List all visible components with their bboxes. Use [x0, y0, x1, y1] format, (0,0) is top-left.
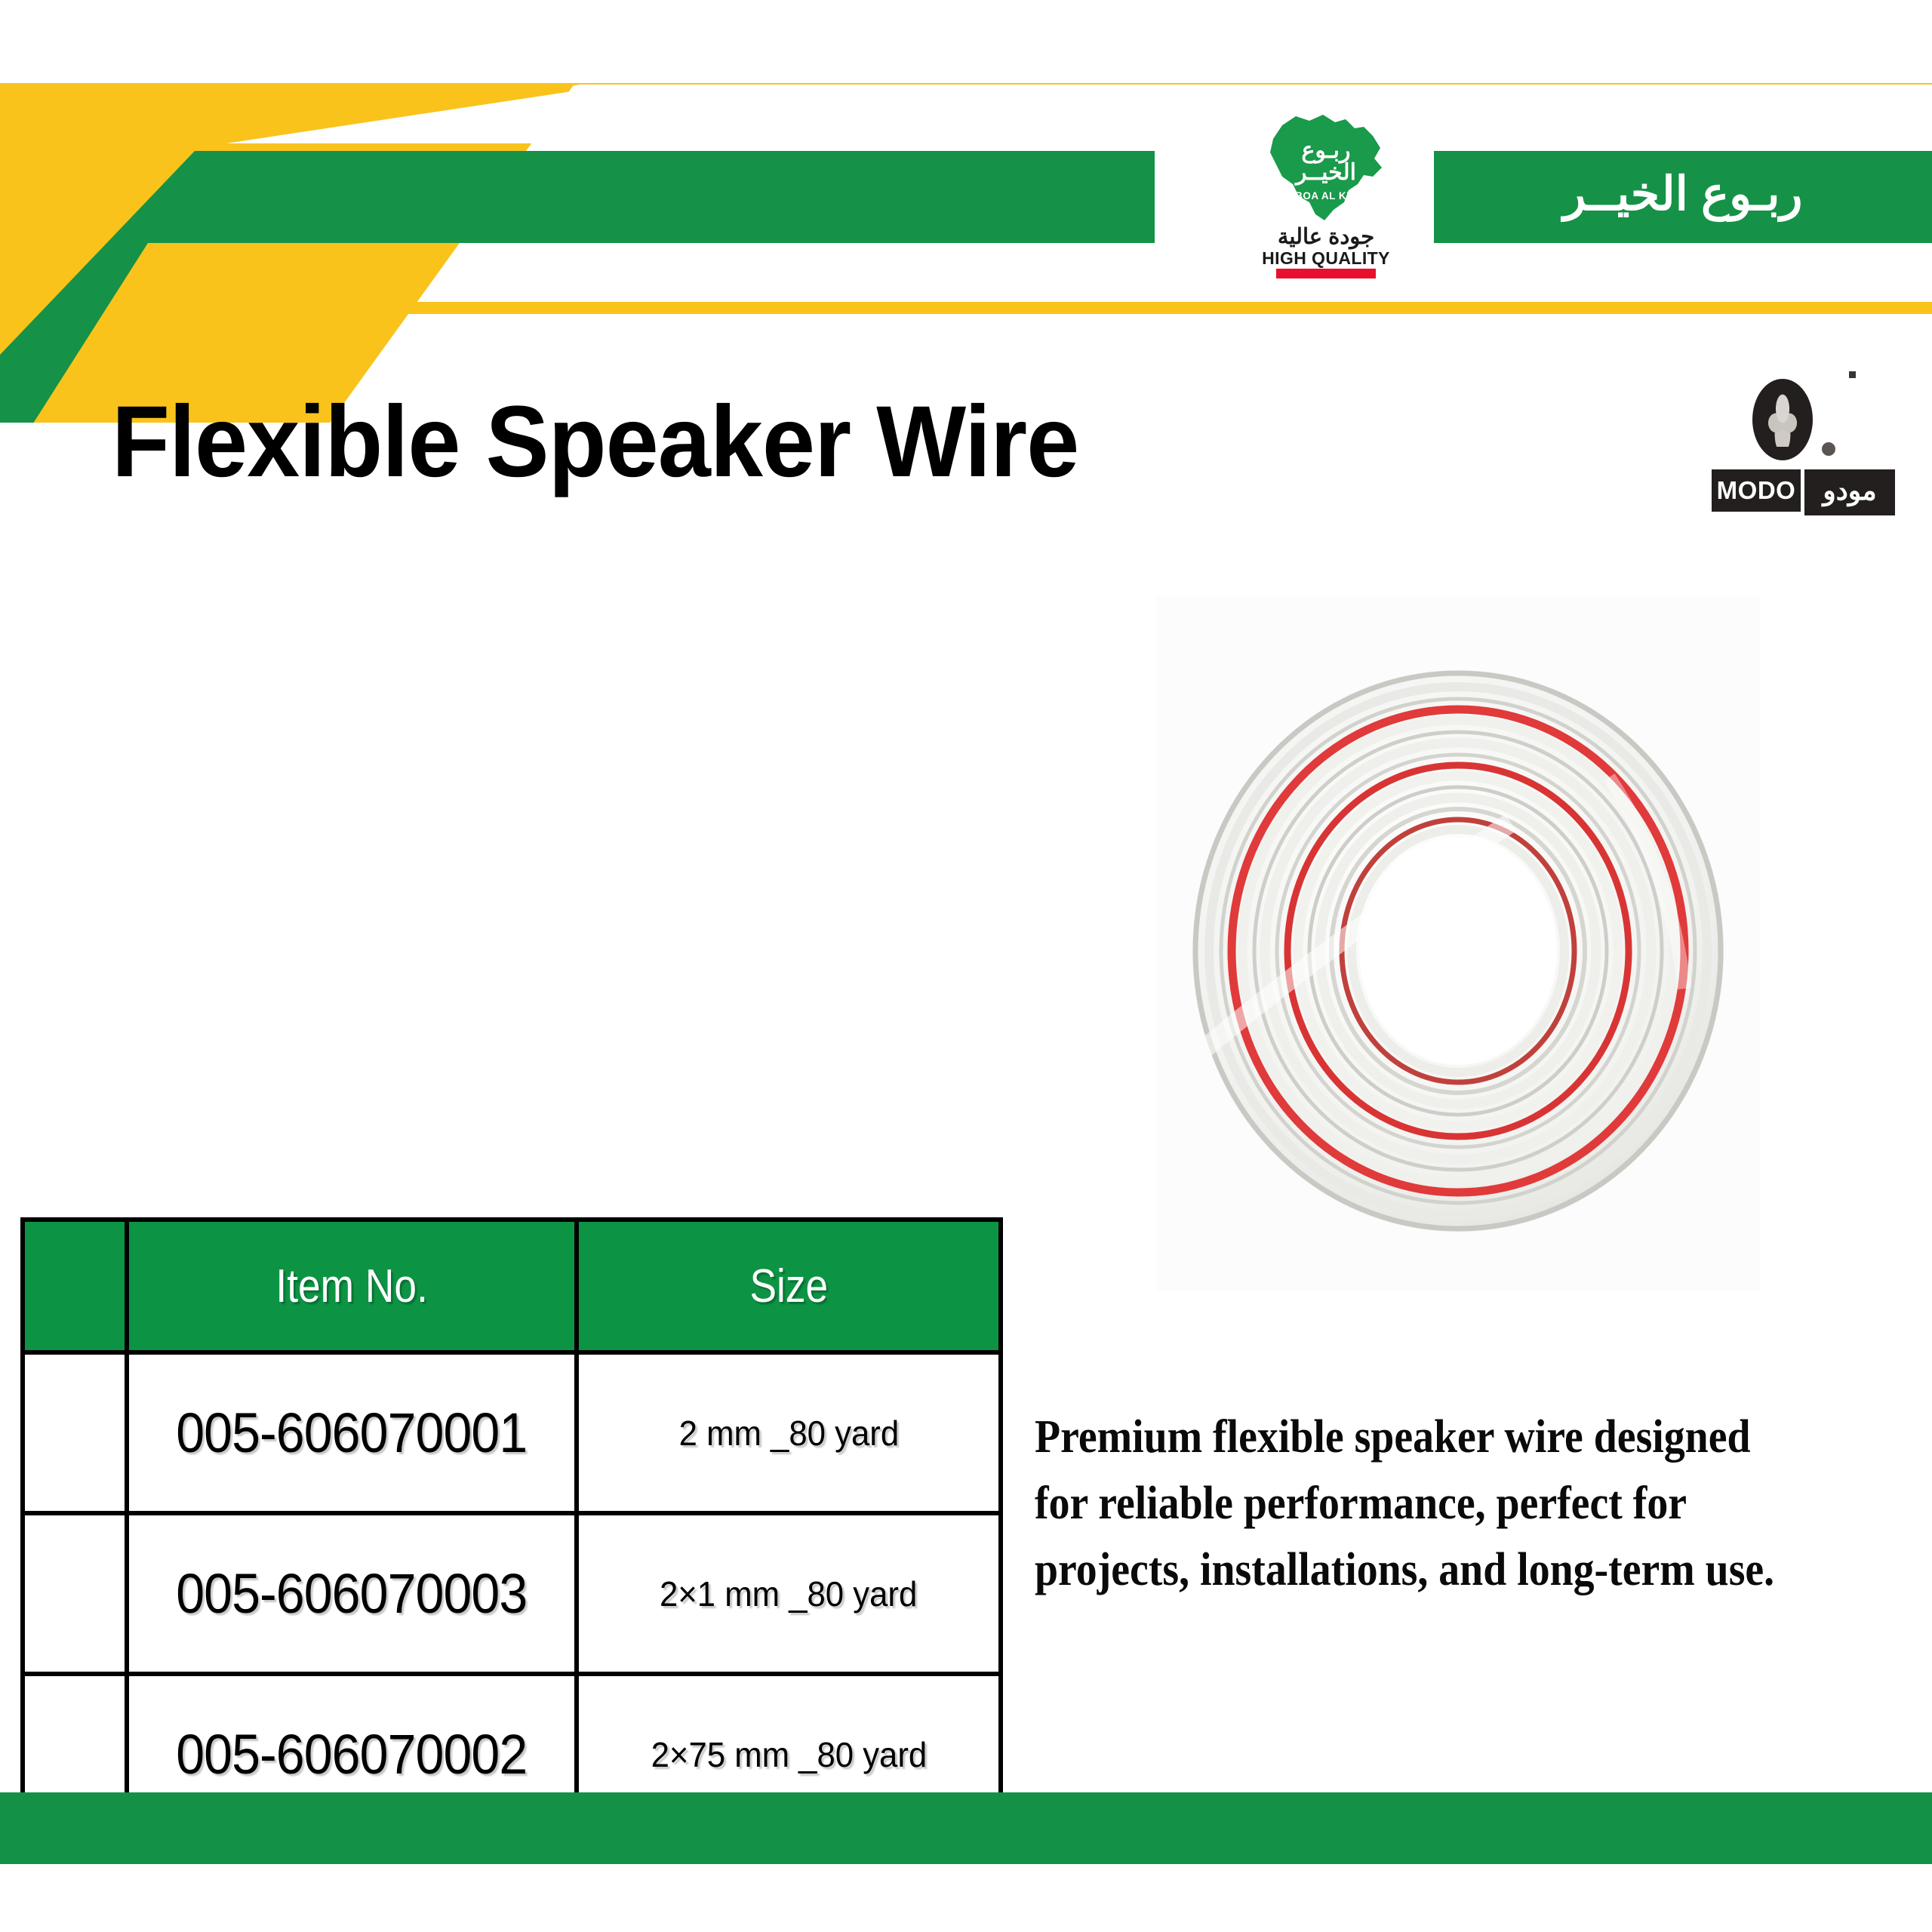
roboa-al-khair-logo: ربـوع الخيــر ROBOA AL KHAIR جودة عالية …: [1232, 112, 1420, 300]
row-item-no-cell: 005-606070003: [127, 1513, 577, 1674]
logo-english-text: ROBOA AL KHAIR: [1260, 190, 1392, 202]
table-row: 005-606070001 2 mm _80 yard: [23, 1352, 1001, 1513]
high-quality-english: HIGH QUALITY: [1261, 249, 1391, 267]
saudi-map-icon: ربـوع الخيــر ROBOA AL KHAIR: [1260, 112, 1392, 225]
product-description: Premium flexible speaker wire designed f…: [1035, 1404, 1802, 1603]
logo-arabic-text: ربـوع الخيــر: [1260, 140, 1392, 184]
table-row: 005-606070003 2×1 mm _80 yard: [23, 1513, 1001, 1674]
column-header-index: [23, 1220, 127, 1352]
modo-dot-mark: [1849, 371, 1856, 378]
modo-logo: MODO مودو: [1712, 370, 1902, 543]
product-image: [1156, 596, 1760, 1291]
row-size-cell: 2×1 mm _80 yard: [577, 1513, 1001, 1674]
page-title: Flexible Speaker Wire: [112, 386, 1078, 497]
row-index-cell: [23, 1352, 127, 1513]
header-banner-left: [196, 151, 1155, 241]
header-banner-right: ربـوع الخيــر: [1434, 151, 1932, 243]
footer-bar: [0, 1792, 1932, 1864]
product-sheet-page: ربـوع الخيــر ربـوع الخيــر ROBOA AL KHA…: [0, 0, 1932, 1932]
row-size-cell: 2 mm _80 yard: [577, 1352, 1001, 1513]
high-quality-seal: جودة عالية HIGH QUALITY: [1261, 226, 1391, 278]
row-index-cell: [23, 1513, 127, 1674]
specification-table: Item No. Size 005-606070001 2 mm _80 yar…: [20, 1217, 1003, 1837]
brand-arabic-name: ربـوع الخيــر: [1564, 171, 1803, 223]
high-quality-arabic: جودة عالية: [1261, 226, 1391, 249]
modo-wordmark-english: MODO: [1712, 469, 1801, 512]
modo-emblem-crest: [1764, 392, 1801, 447]
modo-wordmark-arabic: مودو: [1804, 469, 1895, 515]
table-header-row: Item No. Size: [23, 1220, 1001, 1352]
column-header-size: Size: [577, 1220, 1001, 1352]
modo-wordmark: MODO مودو: [1712, 469, 1895, 515]
row-item-no-cell: 005-606070001: [127, 1352, 577, 1513]
column-header-item-no: Item No.: [127, 1220, 577, 1352]
registered-trademark-icon: [1822, 442, 1835, 456]
high-quality-underline-bar: [1276, 269, 1376, 278]
modo-emblem-icon: [1752, 379, 1813, 460]
